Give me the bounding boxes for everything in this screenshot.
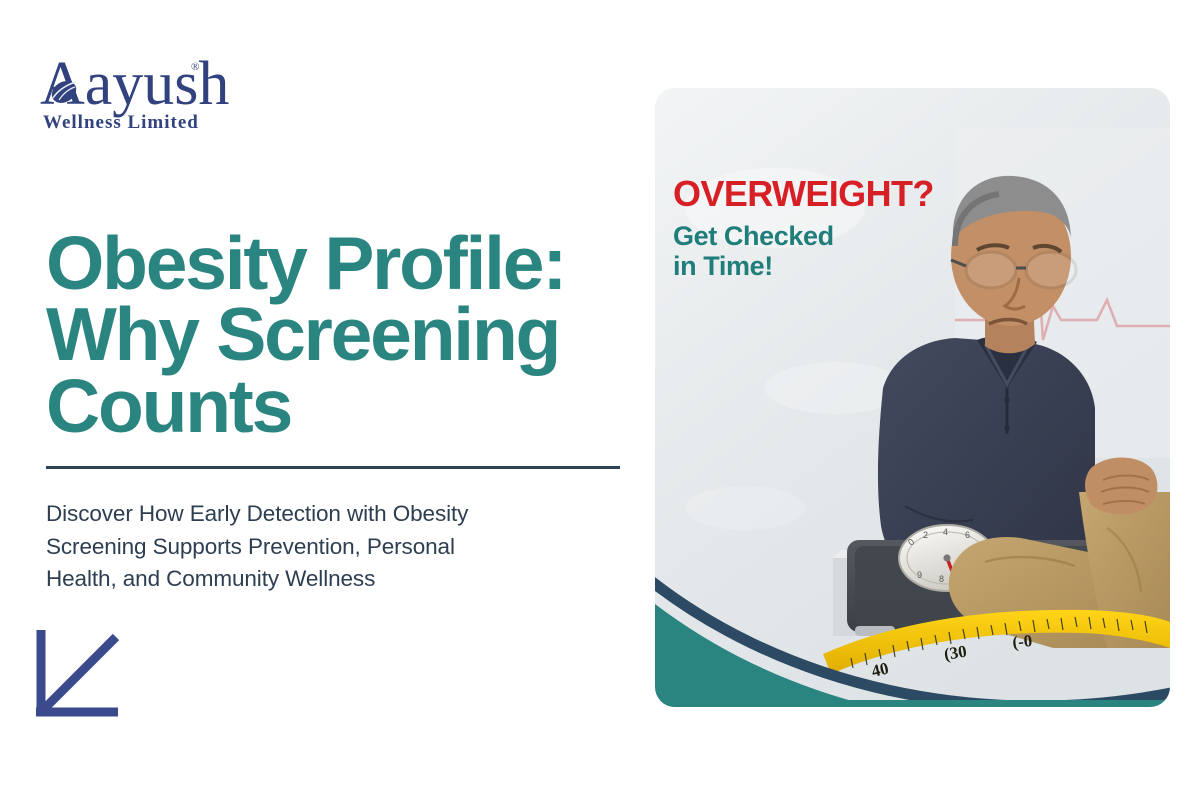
svg-text:4: 4 [943, 527, 948, 537]
svg-text:2: 2 [923, 530, 928, 540]
subtitle-line-2: Screening Supports Prevention, Personal [46, 531, 606, 564]
svg-text:6: 6 [965, 530, 970, 540]
svg-text:8: 8 [939, 574, 944, 584]
brand-logo: Aayush ® Wellness Limited [38, 48, 258, 140]
trademark-symbol: ® [191, 61, 199, 73]
svg-text:9: 9 [917, 570, 922, 580]
hero-image-card: 0 2 4 6 8 9 8 4 [655, 88, 1170, 707]
tape-mark-2: (-0 [1011, 631, 1033, 652]
subtitle-line-3: Health, and Community Wellness [46, 563, 606, 596]
title-divider [46, 466, 620, 469]
hands [1085, 458, 1157, 515]
card-photo: 0 2 4 6 8 9 8 4 [655, 88, 1170, 707]
logo-wordmark: Aayush ® [38, 48, 258, 118]
page-title: Obesity Profile: Why Screening Counts [46, 228, 646, 442]
page-subtitle: Discover How Early Detection with Obesit… [46, 498, 606, 596]
headline-line-2: Why Screening [46, 299, 646, 370]
brand-tagline: Wellness Limited [43, 112, 199, 134]
headline-line-1: Obesity Profile: [46, 228, 646, 299]
arrow-down-left-icon [34, 628, 134, 720]
poster-canvas: Aayush ® Wellness Limited Obesity Profil… [0, 0, 1200, 800]
tape-mark-1: (30 [943, 642, 968, 664]
headline-line-3: Counts [46, 371, 646, 442]
subtitle-line-1: Discover How Early Detection with Obesit… [46, 498, 606, 531]
